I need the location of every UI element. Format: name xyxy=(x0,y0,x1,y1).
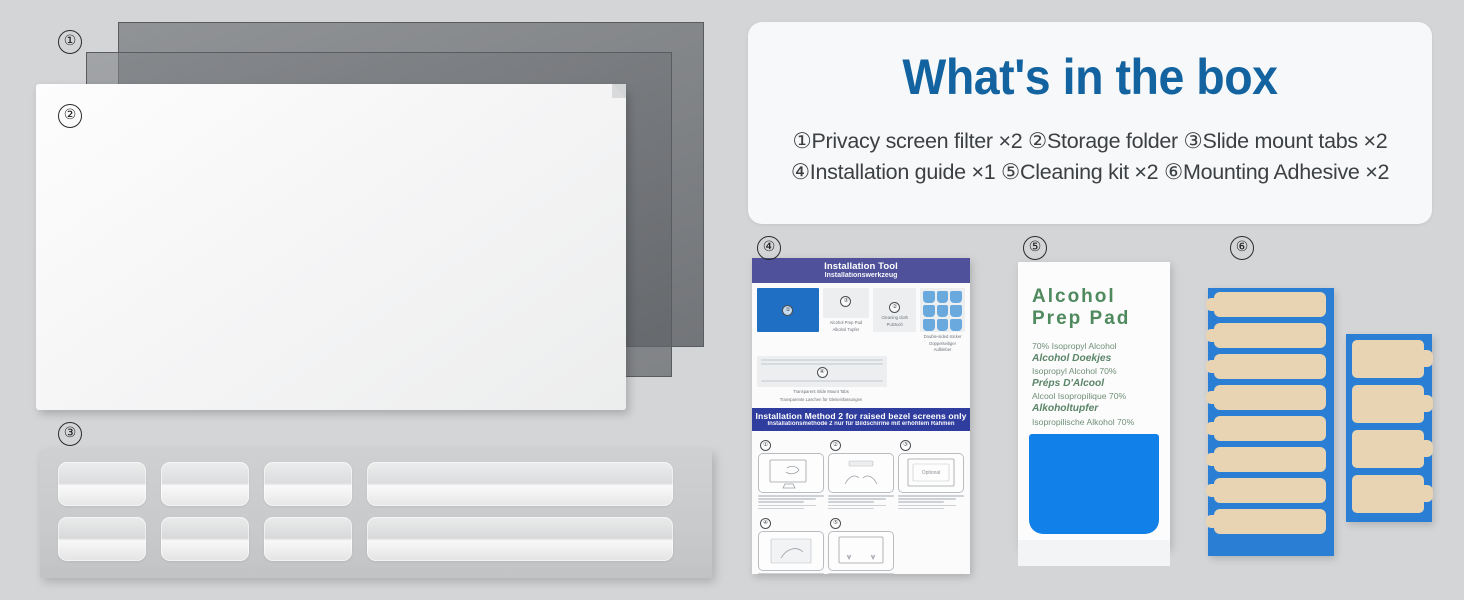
strip-line xyxy=(761,359,883,361)
marker-5: ⑤ xyxy=(1023,236,1047,260)
svg-text:Optional: Optional xyxy=(922,470,941,476)
peel-film-icon xyxy=(759,532,823,570)
slide-mount-tab xyxy=(58,517,146,561)
step-panel: ③ Optional xyxy=(898,440,964,511)
storage-folder xyxy=(36,84,626,410)
step-caption xyxy=(828,495,894,509)
spec-line: Alcool Isopropilique 70% xyxy=(1032,390,1170,403)
sticker-cell xyxy=(923,291,935,303)
sticker-cell xyxy=(950,291,962,303)
tool-alcohol-pad: ③ Alcohol Prep Pad Alkohol Tupfer xyxy=(823,288,870,352)
whats-in-the-box-card: What's in the box ①Privacy screen filter… xyxy=(748,22,1432,224)
slide-mount-strip: ④ xyxy=(757,356,887,387)
installation-tool-title-en: Installation Tool xyxy=(752,261,970,272)
slide-mount-tab xyxy=(264,462,352,506)
strip-line xyxy=(761,380,883,382)
adhesive-stub-column xyxy=(1346,334,1432,513)
spec-line: Alcohol Doekjes xyxy=(1032,353,1170,366)
step-number: ③ xyxy=(900,440,911,451)
marker-2: ② xyxy=(58,104,82,128)
adhesive-stub xyxy=(1352,340,1424,378)
alcohol-pad-spec-list: 70% Isopropyl Alcohol Alcohol Doekjes Is… xyxy=(1018,330,1170,428)
adhesive-stub xyxy=(1352,430,1424,468)
alcohol-pad-title: Alcohol Prep Pad xyxy=(1018,262,1170,330)
slide-mount-tabs-sheet xyxy=(40,450,712,578)
tool-caption-alcohol-de: Alkohol Tupfer xyxy=(823,327,870,332)
spec-line: Préps D'Alcool xyxy=(1032,378,1170,391)
tool-caption-cloth-de: Putztuch xyxy=(873,322,916,327)
tool-caption-sticker-de: Doppelseitiger Aufkleber xyxy=(920,341,965,352)
step-illustration xyxy=(828,531,894,571)
tool-caption-cloth-en: Cleaning cloth xyxy=(873,315,916,320)
strip-line xyxy=(761,363,883,365)
zigzag-tear-edge xyxy=(1018,540,1170,566)
tool-double-sided-sticker: Double-sided sticker Doppelseitiger Aufk… xyxy=(920,288,965,352)
installation-method-header: Installation Method 2 for raised bezel s… xyxy=(752,408,970,431)
sticker-grid xyxy=(920,288,965,334)
step-number: ② xyxy=(830,440,841,451)
step-illustration xyxy=(828,453,894,493)
contents-line-2: ④Installation guide ×1 ⑤Cleaning kit ×2 … xyxy=(748,157,1432,188)
alcohol-pad-title-line2: Prep Pad xyxy=(1032,308,1170,330)
sticker-cell xyxy=(937,291,949,303)
slide-mount-tab xyxy=(161,517,249,561)
marker-6: ⑥ xyxy=(1230,236,1254,260)
adhesive-sheet-small xyxy=(1346,334,1432,522)
tab-column-long xyxy=(367,462,673,561)
slide-into-place-icon xyxy=(829,532,893,570)
step-panel: ① xyxy=(758,440,824,511)
tool-caption-sticker-en: Double-sided sticker xyxy=(920,334,965,339)
adhesive-strip xyxy=(1214,478,1326,503)
installation-guide-sheet: Installation Tool Installationswerkzeug … xyxy=(752,258,970,574)
installation-tool-body: ① ③ Alcohol Prep Pad Alkohol Tupfer ② Cl… xyxy=(752,283,970,402)
tool-number-1: ① xyxy=(782,305,793,316)
tool-number-3: ③ xyxy=(840,296,851,307)
installation-tool-header: Installation Tool Installationswerkzeug xyxy=(752,258,970,283)
slide-mount-tab-long xyxy=(367,517,673,561)
step-illustration: Optional xyxy=(898,453,964,493)
slide-mount-tab xyxy=(264,517,352,561)
step-caption xyxy=(898,495,964,509)
tab-column xyxy=(264,462,352,561)
optional-placement-icon: Optional xyxy=(899,454,963,492)
spec-line: Isopropilische Alkohol 70% xyxy=(1032,416,1170,429)
marker-1: ① xyxy=(58,30,82,54)
step-number: ⑤ xyxy=(830,518,841,529)
slide-mount-tab-grid xyxy=(58,462,673,561)
adhesive-strip xyxy=(1214,509,1326,534)
sticker-cell xyxy=(937,305,949,317)
step-panel: ④ xyxy=(758,518,824,574)
installation-steps: ① ② xyxy=(752,431,970,574)
alcohol-pad-title-line1: Alcohol xyxy=(1032,286,1170,308)
method-title-en: Installation Method 2 for raised bezel s… xyxy=(752,411,970,421)
adhesive-stub xyxy=(1352,385,1424,423)
adhesive-strip xyxy=(1214,385,1326,410)
adhesive-strip xyxy=(1214,447,1326,472)
adhesive-stub xyxy=(1352,475,1424,513)
mounting-adhesive-set xyxy=(1208,288,1446,560)
adhesive-strip xyxy=(1214,323,1326,348)
step-illustration xyxy=(758,531,824,571)
spec-line: 70% Isopropyl Alcohol xyxy=(1032,340,1170,353)
sticker-cell xyxy=(923,305,935,317)
tool-caption-alcohol-en: Alcohol Prep Pad xyxy=(823,320,870,325)
step-panel-empty xyxy=(898,518,964,574)
slide-mount-tab xyxy=(58,462,146,506)
monitor-hand-icon xyxy=(759,454,823,492)
spec-line: Isopropyl Alcohol 70% xyxy=(1032,365,1170,378)
peel-tabs-icon xyxy=(829,454,893,492)
marker-4: ④ xyxy=(757,236,781,260)
step-illustration xyxy=(758,453,824,493)
adhesive-strip xyxy=(1214,416,1326,441)
sticker-cell xyxy=(950,305,962,317)
spec-line: Alkoholtupfer xyxy=(1032,403,1170,416)
page-title: What's in the box xyxy=(772,22,1408,106)
method-title-de: Installationsmethode 2 nur für Bildschir… xyxy=(752,421,970,427)
adhesive-sheet-large xyxy=(1208,288,1334,556)
step-panel: ⑤ xyxy=(828,518,894,574)
product-contents-infographic: ① ② ③ What's in the box ①P xyxy=(0,0,1464,600)
sticker-cell xyxy=(937,319,949,331)
marker-3: ③ xyxy=(58,422,82,446)
adhesive-strip xyxy=(1214,292,1326,317)
slide-caption-de: Transparente Laschen für Gleiteinfassung… xyxy=(757,397,885,402)
slide-strip-number: ④ xyxy=(817,367,828,378)
adhesive-strip xyxy=(1214,354,1326,379)
step-number: ① xyxy=(760,440,771,451)
alcohol-pad-blue-block xyxy=(1029,434,1159,534)
slide-mount-tab-long xyxy=(367,462,673,506)
tool-number-2: ② xyxy=(889,302,900,313)
steps-row-top: ① ② xyxy=(758,440,964,511)
contents-line-1: ①Privacy screen filter ×2 ②Storage folde… xyxy=(748,126,1432,157)
step-caption xyxy=(758,495,824,509)
step-caption xyxy=(828,573,894,574)
tab-column xyxy=(161,462,249,561)
installation-tool-title-de: Installationswerkzeug xyxy=(752,272,970,279)
step-caption xyxy=(758,573,824,574)
contents-list: ①Privacy screen filter ×2 ②Storage folde… xyxy=(748,126,1432,188)
tab-column xyxy=(58,462,146,561)
tool-cleaning-cloth: ② Cleaning cloth Putztuch xyxy=(873,288,916,352)
sticker-cell xyxy=(923,319,935,331)
slide-mount-tab xyxy=(161,462,249,506)
step-number: ④ xyxy=(760,518,771,529)
slide-caption-en: Transparent Slide Mount Tabs xyxy=(757,389,885,394)
alcohol-pad-serrated-edge xyxy=(1018,540,1170,566)
steps-row-bottom: ④ ⑤ xyxy=(758,518,964,574)
tool-filter-thumb: ① xyxy=(757,288,819,332)
step-panel: ② xyxy=(828,440,894,511)
tool-row: ① ③ Alcohol Prep Pad Alkohol Tupfer ② Cl… xyxy=(757,288,965,352)
sticker-cell xyxy=(950,319,962,331)
alcohol-prep-pad-packet: Alcohol Prep Pad 70% Isopropyl Alcohol A… xyxy=(1018,262,1170,548)
